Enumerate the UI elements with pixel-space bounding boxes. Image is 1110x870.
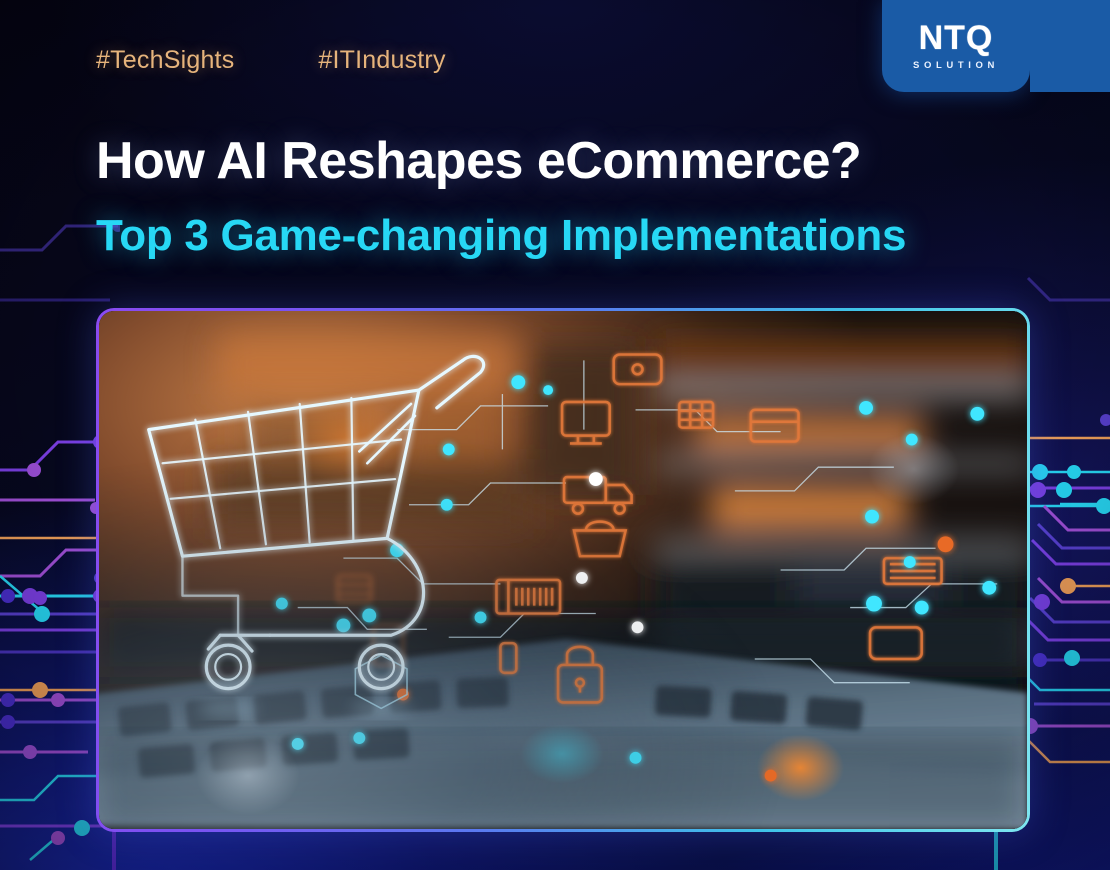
hashtag-row: #TechSights #ITIndustry: [96, 46, 446, 75]
hero-illustration: [99, 311, 1027, 829]
headline-secondary: Top 3 Game-changing Implementations: [96, 212, 906, 260]
ntq-logo-badge[interactable]: NTQ SOLUTION: [882, 0, 1030, 92]
poster-canvas: #TechSights #ITIndustry NTQ SOLUTION How…: [0, 0, 1110, 870]
logo-wordmark: NTQ: [919, 21, 994, 55]
hero-image-frame: [96, 308, 1030, 832]
hashtag-techsights: #TechSights: [96, 46, 234, 75]
headline-primary: How AI Reshapes eCommerce?: [96, 134, 861, 189]
hero-image: [99, 311, 1027, 829]
logo-tagline: SOLUTION: [913, 60, 999, 71]
hashtag-itindustry: #ITIndustry: [318, 46, 445, 75]
